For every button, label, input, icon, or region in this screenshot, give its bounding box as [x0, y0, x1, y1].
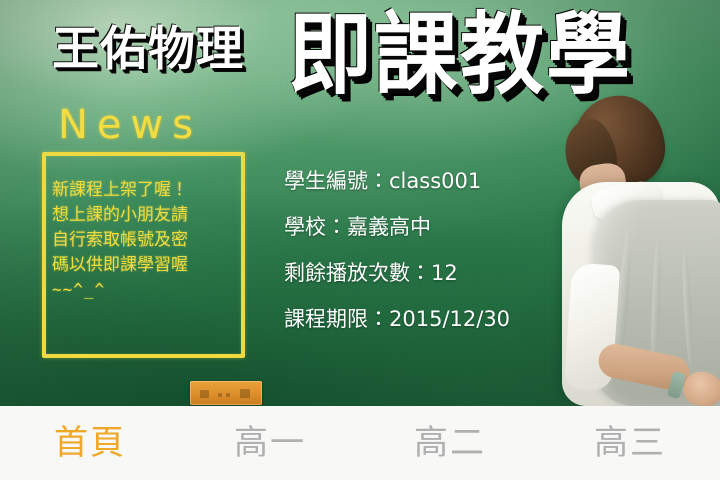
news-emoticon: ~~^_^: [52, 277, 242, 302]
info-row-student-id: 學生編號：class001: [284, 158, 584, 204]
info-label: 學校：: [284, 215, 347, 239]
info-row-remaining-plays: 剩餘播放次數：12: [284, 250, 584, 296]
info-value: class001: [389, 169, 481, 193]
nav-item-grade-3[interactable]: 高三: [540, 426, 720, 460]
bottom-navigation: 首頁 高一 高二 高三: [0, 406, 720, 480]
info-value: 嘉義高中: [347, 215, 431, 239]
info-label: 剩餘播放次數：: [284, 261, 431, 285]
student-info-panel: 學生編號：class001 學校：嘉義高中 剩餘播放次數：12 課程期限：201…: [284, 158, 584, 342]
tray-box-mark: [226, 393, 230, 397]
tray-box-mark: [200, 390, 209, 398]
tray-box-mark: [240, 389, 250, 398]
news-heading: News: [58, 105, 202, 145]
info-row-course-expiry: 課程期限：2015/12/30: [284, 296, 584, 342]
info-value: 12: [431, 261, 458, 285]
news-line: 自行索取帳號及密: [52, 228, 242, 253]
tray-box-mark: [218, 393, 222, 397]
info-value: 2015/12/30: [389, 307, 510, 331]
news-body: 新課程上架了喔！ 想上課的小朋友請 自行索取帳號及密 碼以供即課學習喔 ~~^_…: [52, 178, 242, 302]
info-label: 學生編號：: [284, 169, 389, 193]
nav-item-grade-2[interactable]: 高二: [360, 426, 540, 460]
nav-item-home[interactable]: 首頁: [0, 426, 180, 460]
nav-item-grade-1[interactable]: 高一: [180, 426, 360, 460]
app-root: 王佑物理 即課教學 News 新課程上架了喔！ 想上課的小朋友請 自行索取帳號及…: [0, 0, 720, 480]
news-line: 新課程上架了喔！: [52, 178, 242, 203]
info-row-school: 學校：嘉義高中: [284, 204, 584, 250]
info-label: 課程期限：: [284, 307, 389, 331]
chalk-tray-box: [190, 381, 262, 405]
news-line: 碼以供即課學習喔: [52, 253, 242, 278]
news-line: 想上課的小朋友請: [52, 203, 242, 228]
